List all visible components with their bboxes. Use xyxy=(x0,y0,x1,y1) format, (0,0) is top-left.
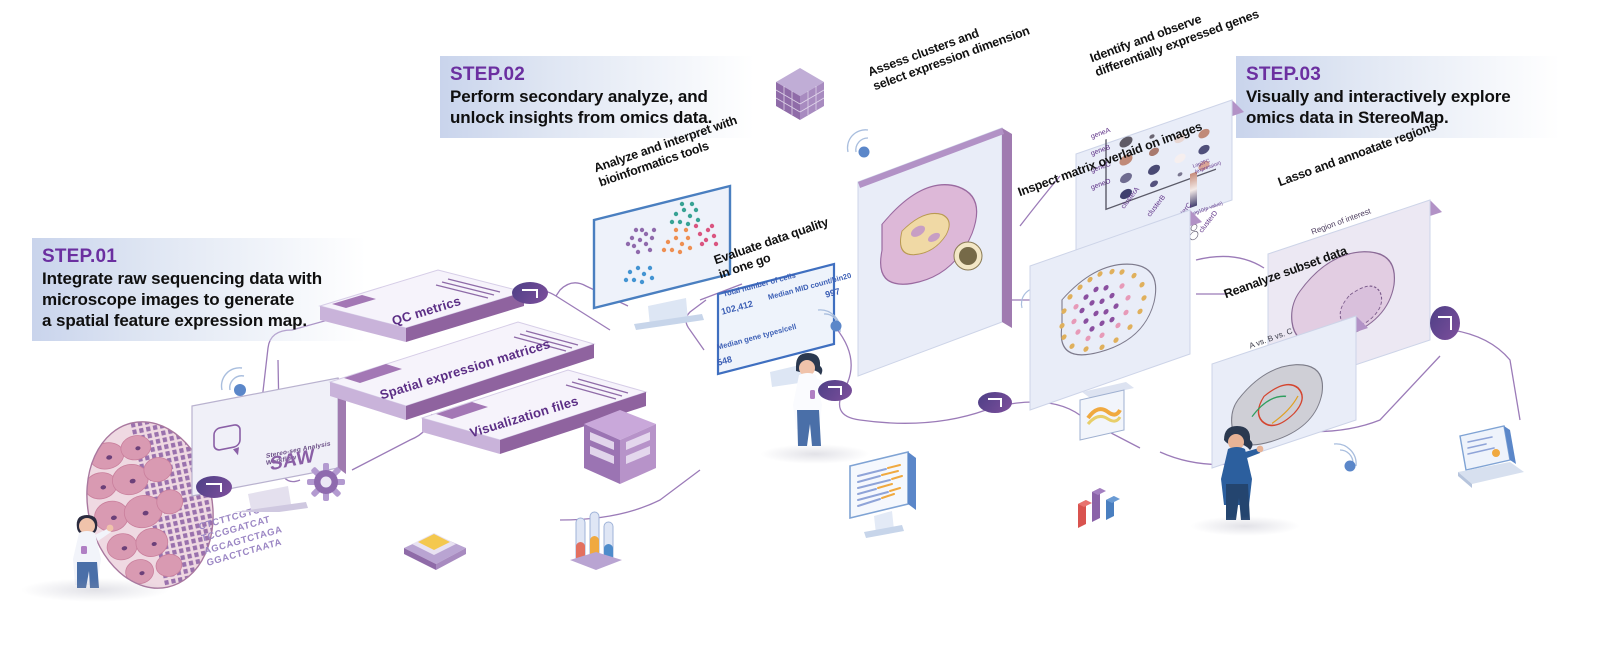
clusters-caption: Assess clusters and select expression di… xyxy=(866,9,1032,94)
ground-shadow xyxy=(20,578,170,602)
matrix-overlay-panel xyxy=(1022,196,1212,406)
step-01-callout: STEP.01 Integrate raw sequencing data wi… xyxy=(32,238,366,341)
step-02-text: Perform secondary analyze, and unlock in… xyxy=(450,86,740,128)
signal-rings-icon xyxy=(810,300,856,346)
bar-chart-icon xyxy=(1070,474,1130,532)
signal-rings-icon xyxy=(838,124,882,168)
node-pill xyxy=(512,282,548,304)
step-03-label: STEP.03 xyxy=(1246,64,1546,86)
heatmap-monitor-icon xyxy=(1076,376,1140,448)
signal-rings-icon xyxy=(1326,436,1370,480)
step-03-callout: STEP.03 Visually and interactively explo… xyxy=(1236,56,1560,138)
signal-rings-icon xyxy=(204,354,264,414)
step-03-text: Visually and interactively explore omics… xyxy=(1246,86,1546,128)
ground-shadow xyxy=(1190,516,1300,536)
chip-device-icon xyxy=(400,512,470,572)
server-rack-icon xyxy=(580,400,660,490)
node-pill xyxy=(818,380,852,401)
code-monitor-icon xyxy=(846,448,926,538)
cube-lattice-icon xyxy=(772,64,828,124)
node-pill xyxy=(196,476,232,498)
infographic-canvas: STEP.01 Integrate raw sequencing data wi… xyxy=(0,0,1600,660)
step-02-label: STEP.02 xyxy=(450,64,740,86)
gear-icon xyxy=(306,462,346,502)
scientist-icon xyxy=(1208,418,1268,523)
ground-shadow xyxy=(760,444,870,464)
step-01-label: STEP.01 xyxy=(42,246,352,268)
test-tubes-icon xyxy=(568,508,624,574)
scientist-icon xyxy=(55,500,115,590)
step-01-text: Integrate raw sequencing data with micro… xyxy=(42,268,352,331)
node-pill xyxy=(978,392,1012,413)
laptop-icon xyxy=(1448,420,1528,500)
node-pill xyxy=(1430,306,1460,340)
